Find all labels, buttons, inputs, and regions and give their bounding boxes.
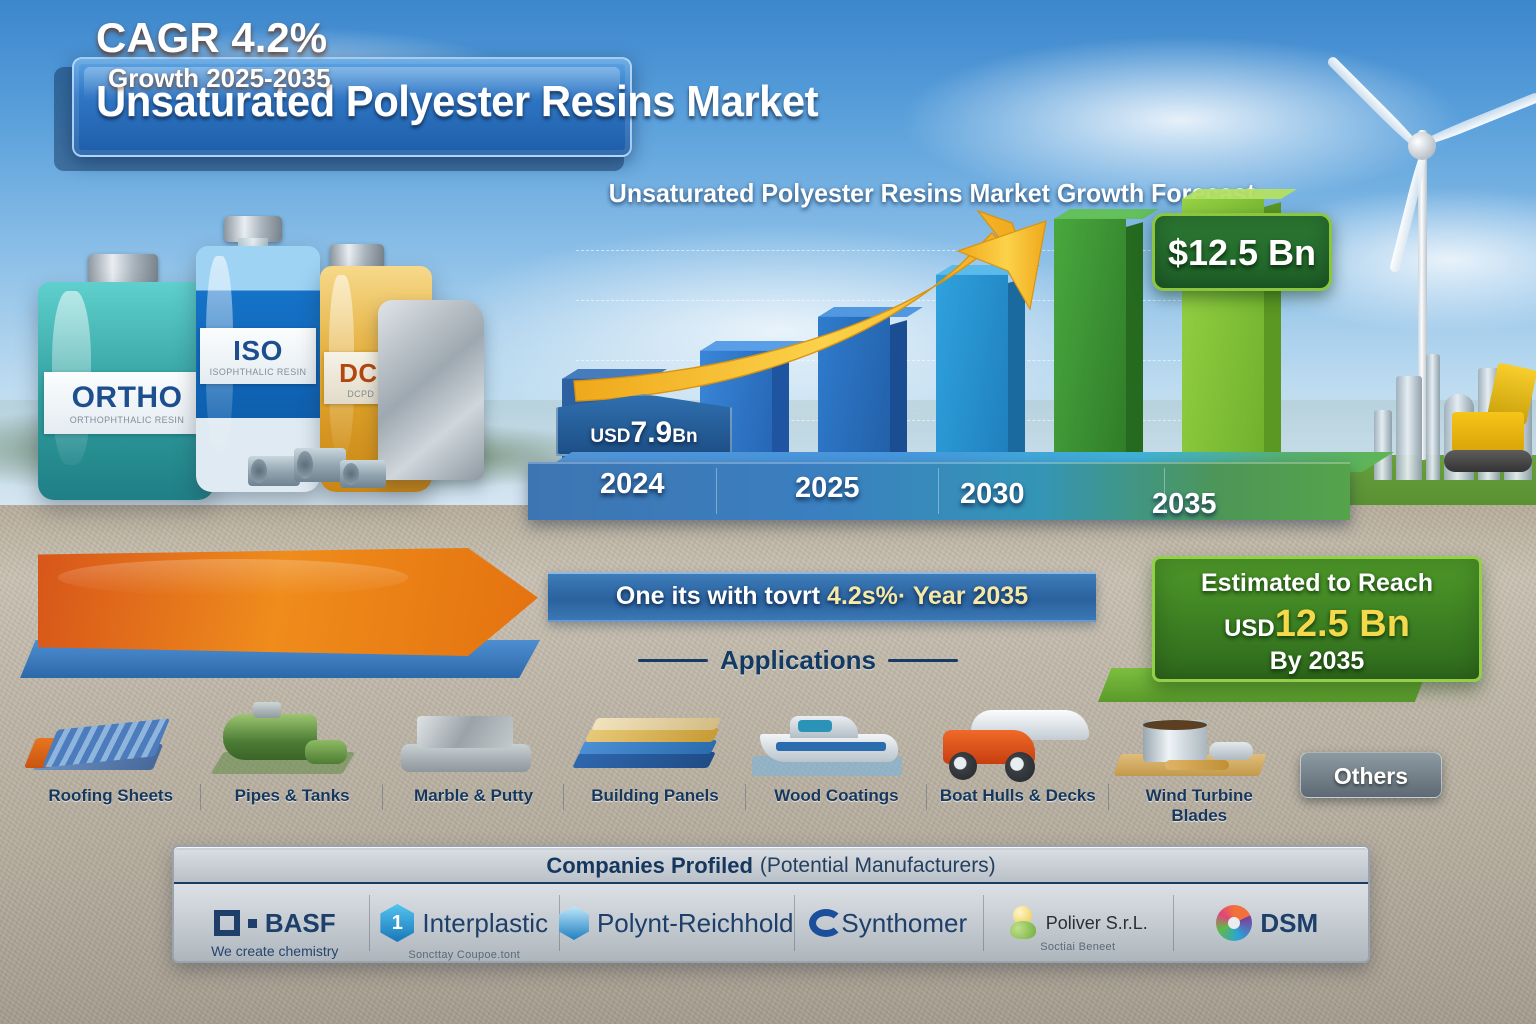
- application-label: Wind Turbine Blades: [1103, 786, 1296, 825]
- bottle-label-iso: ISO ISOPHTHALIC RESIN: [200, 328, 316, 384]
- rule-left: [638, 659, 708, 662]
- chart-end-value-callout: $12.5 Bn: [1152, 213, 1332, 291]
- others-badge-label: Others: [1301, 763, 1441, 790]
- dsm-swirl-icon: [1216, 905, 1252, 941]
- company-logo-synthomer[interactable]: Synthomer: [794, 887, 983, 959]
- paint-can-brush-icon: [1109, 690, 1290, 782]
- marble-slab-putty-icon: [383, 690, 564, 782]
- company-name: BASF: [265, 908, 336, 939]
- company-sub: Soctiai Beneet: [983, 941, 1172, 953]
- company-name: Interplastic: [422, 908, 548, 939]
- interplastic-hex-1-icon: 1: [380, 904, 414, 942]
- poliver-flower-icon: [1008, 906, 1038, 940]
- basf-square-icon: [214, 910, 240, 936]
- bottle-label-ortho-name: ORTHO: [72, 381, 183, 415]
- company-name: DSM: [1260, 908, 1318, 939]
- basf-dot-icon: [248, 919, 257, 928]
- company-logo-dsm[interactable]: DSM: [1173, 887, 1362, 959]
- company-logo-interplastic[interactable]: 1 Interplastic Soncttay Coupoe.tont: [369, 887, 558, 959]
- rule-right: [888, 659, 958, 662]
- company-name: Polynt-Reichhold: [597, 908, 794, 939]
- resin-granule-bag-icon: [378, 300, 484, 480]
- axis-tick-2030: 2030: [960, 478, 1025, 511]
- application-item[interactable]: Boat Hulls & Decks: [927, 690, 1108, 835]
- application-label: Marble & Putty: [377, 786, 570, 806]
- application-item[interactable]: Building Panels: [564, 690, 745, 835]
- application-label: Pipes & Tanks: [195, 786, 388, 806]
- application-label: Building Panels: [558, 786, 751, 806]
- companies-heading-light: (Potential Manufacturers): [760, 854, 996, 878]
- estimate-currency: USD: [1224, 615, 1275, 642]
- application-label: Boat Hulls & Decks: [921, 786, 1114, 806]
- company-name: Poliver S.r.L.: [1046, 913, 1148, 934]
- companies-heading: Companies Profiled (Potential Manufactur…: [174, 850, 1368, 884]
- bottle-cap: [88, 254, 158, 284]
- companies-logo-row: BASF We create chemistry 1 Interplastic …: [180, 887, 1362, 959]
- company-tagline: We create chemistry: [180, 943, 369, 959]
- company-logo-basf[interactable]: BASF We create chemistry: [180, 887, 369, 959]
- cagr-banner: [38, 548, 538, 656]
- applications-heading-text: Applications: [720, 645, 876, 676]
- synthomer-c-icon: [809, 909, 843, 937]
- start-value-suffix: Bn: [672, 426, 697, 447]
- axis-tick-2025: 2025: [795, 472, 860, 505]
- bottle-label-ortho: ORTHO ORTHOPHTHALIC RESIN: [44, 372, 210, 434]
- axis-tick-2035: 2035: [1152, 488, 1217, 521]
- application-item[interactable]: Marble & Putty: [383, 690, 564, 835]
- yellow-crane-truck-icon: [1430, 360, 1536, 485]
- cagr-period: Growth 2025-2035: [108, 63, 331, 94]
- estimate-line-3: By 2035: [1155, 647, 1479, 676]
- bottle-label-ortho-sub: ORTHOPHTHALIC RESIN: [70, 415, 184, 425]
- applications-row: Roofing Sheets Pipes & Tanks Marble & Pu…: [20, 690, 1290, 835]
- companies-heading-bold: Companies Profiled: [546, 853, 753, 879]
- pipe-samples-icon: [248, 440, 388, 500]
- company-logo-polynt-reichhold[interactable]: Polynt-Reichhold: [559, 887, 794, 959]
- application-item[interactable]: Roofing Sheets: [20, 690, 201, 835]
- start-value-prefix: USD: [590, 426, 630, 447]
- companies-panel: Companies Profiled (Potential Manufactur…: [172, 845, 1370, 963]
- others-badge[interactable]: Others: [1300, 752, 1442, 798]
- company-sub: Soncttay Coupoe.tont: [369, 949, 558, 961]
- bottle-label-iso-name: ISO: [233, 335, 283, 367]
- estimate-value: 12.5 Bn: [1275, 603, 1410, 645]
- mid-strip-highlight: 4.2s%· Year 2035: [827, 582, 1028, 610]
- cagr-value: CAGR 4.2%: [96, 14, 327, 62]
- polynt-cube-icon: [559, 906, 589, 940]
- car-body-icon: [927, 690, 1108, 782]
- company-name: Synthomer: [841, 908, 967, 939]
- axis-tick-2024: 2024: [600, 468, 665, 501]
- applications-heading: Applications: [618, 640, 978, 680]
- layered-panels-icon: [564, 690, 745, 782]
- corrugated-roofing-sheet-icon: [20, 690, 201, 782]
- start-value-number: 7.9: [631, 416, 673, 449]
- mid-strip-text: One its with tovrt: [616, 582, 827, 610]
- estimate-box: Estimated to Reach USD12.5 Bn By 2035: [1152, 556, 1482, 682]
- bottle-label-iso-sub: ISOPHTHALIC RESIN: [210, 367, 307, 377]
- estimate-line-1: Estimated to Reach: [1155, 569, 1479, 598]
- application-item[interactable]: Pipes & Tanks: [201, 690, 382, 835]
- application-item[interactable]: Wind Turbine Blades: [1109, 690, 1290, 835]
- infographic-canvas: Unsaturated Polyester Resins Market ORTH…: [0, 0, 1536, 1024]
- chart-end-value-text: $12.5 Bn: [1155, 232, 1329, 274]
- tank-and-pipes-icon: [201, 690, 382, 782]
- speedboat-icon: [746, 690, 927, 782]
- application-item[interactable]: Wood Coatings: [746, 690, 927, 835]
- mid-summary-strip: One its with tovrt 4.2s%· Year 2035: [548, 572, 1096, 622]
- application-label: Wood Coatings: [740, 786, 933, 806]
- application-label: Roofing Sheets: [14, 786, 207, 806]
- company-logo-poliver[interactable]: Poliver S.r.L. Soctiai Beneet: [983, 887, 1172, 959]
